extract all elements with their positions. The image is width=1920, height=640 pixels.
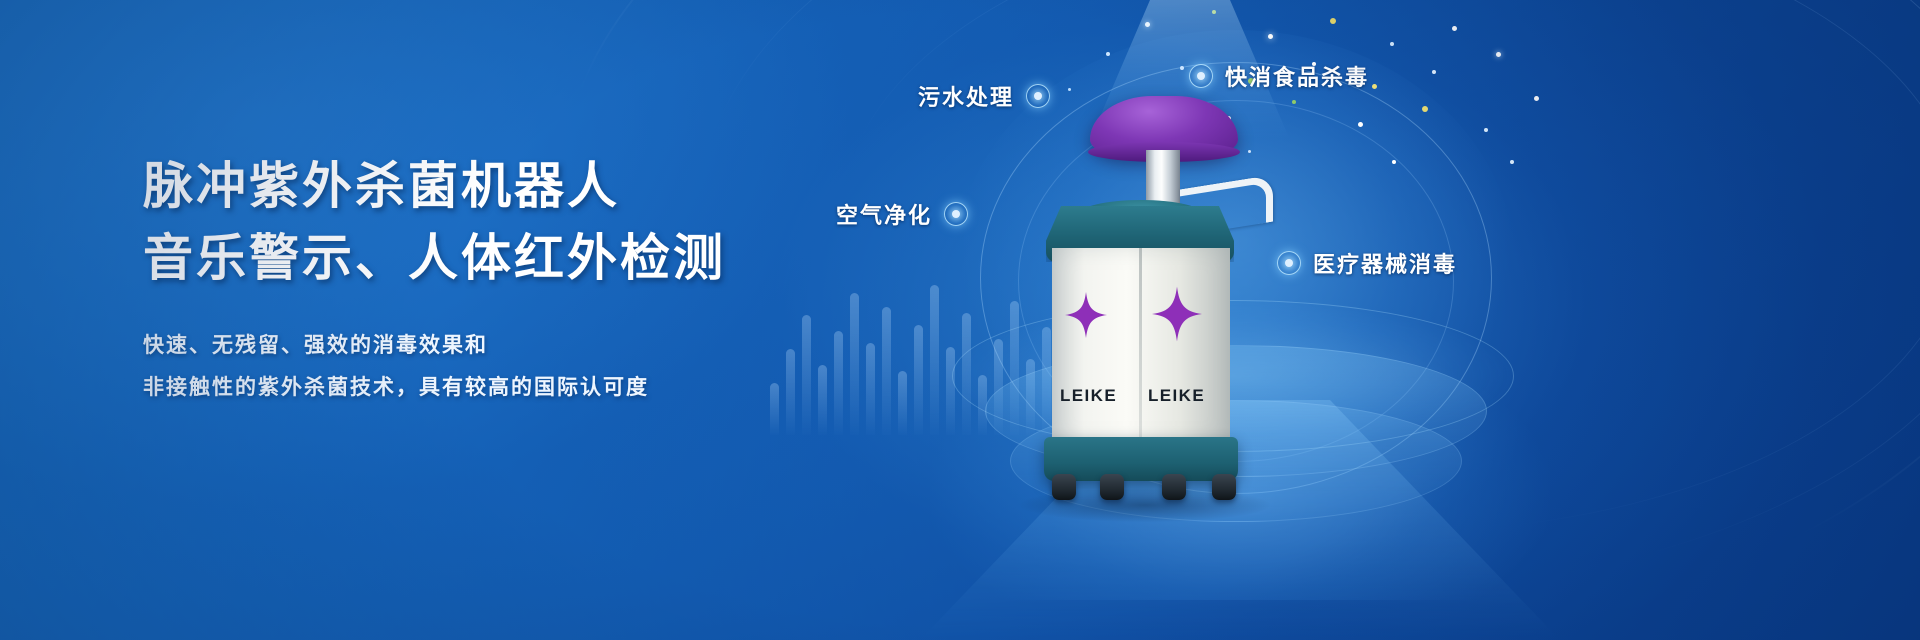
body-seam [1139, 248, 1142, 443]
headline-line-2: 音乐警示、人体红外检测 [143, 222, 726, 294]
glow-node-icon [1026, 84, 1050, 108]
subtitle-line-2: 非接触性的紫外杀菌技术，具有较高的国际认可度 [143, 366, 726, 408]
uv-sparkle-icon [1152, 286, 1202, 342]
promo-banner: LEIKE LEIKE 污水处理 快消食品杀毒 空气净化 医疗器械消毒 脉冲紫外… [0, 0, 1920, 640]
callout-label: 医疗器械消毒 [1313, 247, 1457, 279]
glow-node-icon [1189, 64, 1213, 88]
callout-air-purification[interactable]: 空气净化 [836, 198, 968, 230]
glow-node-icon [944, 202, 968, 226]
uv-sparkle-icon [1065, 292, 1107, 338]
callout-label: 污水处理 [918, 80, 1014, 112]
brand-label-left: LEIKE [1060, 386, 1117, 406]
callout-label: 空气净化 [836, 198, 932, 230]
subtitle-block: 快速、无残留、强效的消毒效果和 非接触性的紫外杀菌技术，具有较高的国际认可度 [143, 324, 726, 408]
caster-wheel-icon [1052, 474, 1076, 500]
brand-label-right: LEIKE [1148, 386, 1205, 406]
caster-wheel-icon [1100, 474, 1124, 500]
callout-medical-device-disinfection[interactable]: 医疗器械消毒 [1277, 247, 1457, 279]
glow-node-icon [1277, 251, 1301, 275]
caster-wheel-icon [1162, 474, 1186, 500]
callout-wastewater[interactable]: 污水处理 [918, 80, 1050, 112]
headline-block: 脉冲紫外杀菌机器人 音乐警示、人体红外检测 快速、无残留、强效的消毒效果和 非接… [143, 150, 726, 408]
callout-label: 快消食品杀毒 [1225, 60, 1369, 92]
caster-wheel-icon [1212, 474, 1236, 500]
callout-food-sterilization[interactable]: 快消食品杀毒 [1189, 60, 1369, 92]
subtitle-line-1: 快速、无残留、强效的消毒效果和 [143, 324, 726, 366]
headline-line-1: 脉冲紫外杀菌机器人 [143, 150, 726, 222]
